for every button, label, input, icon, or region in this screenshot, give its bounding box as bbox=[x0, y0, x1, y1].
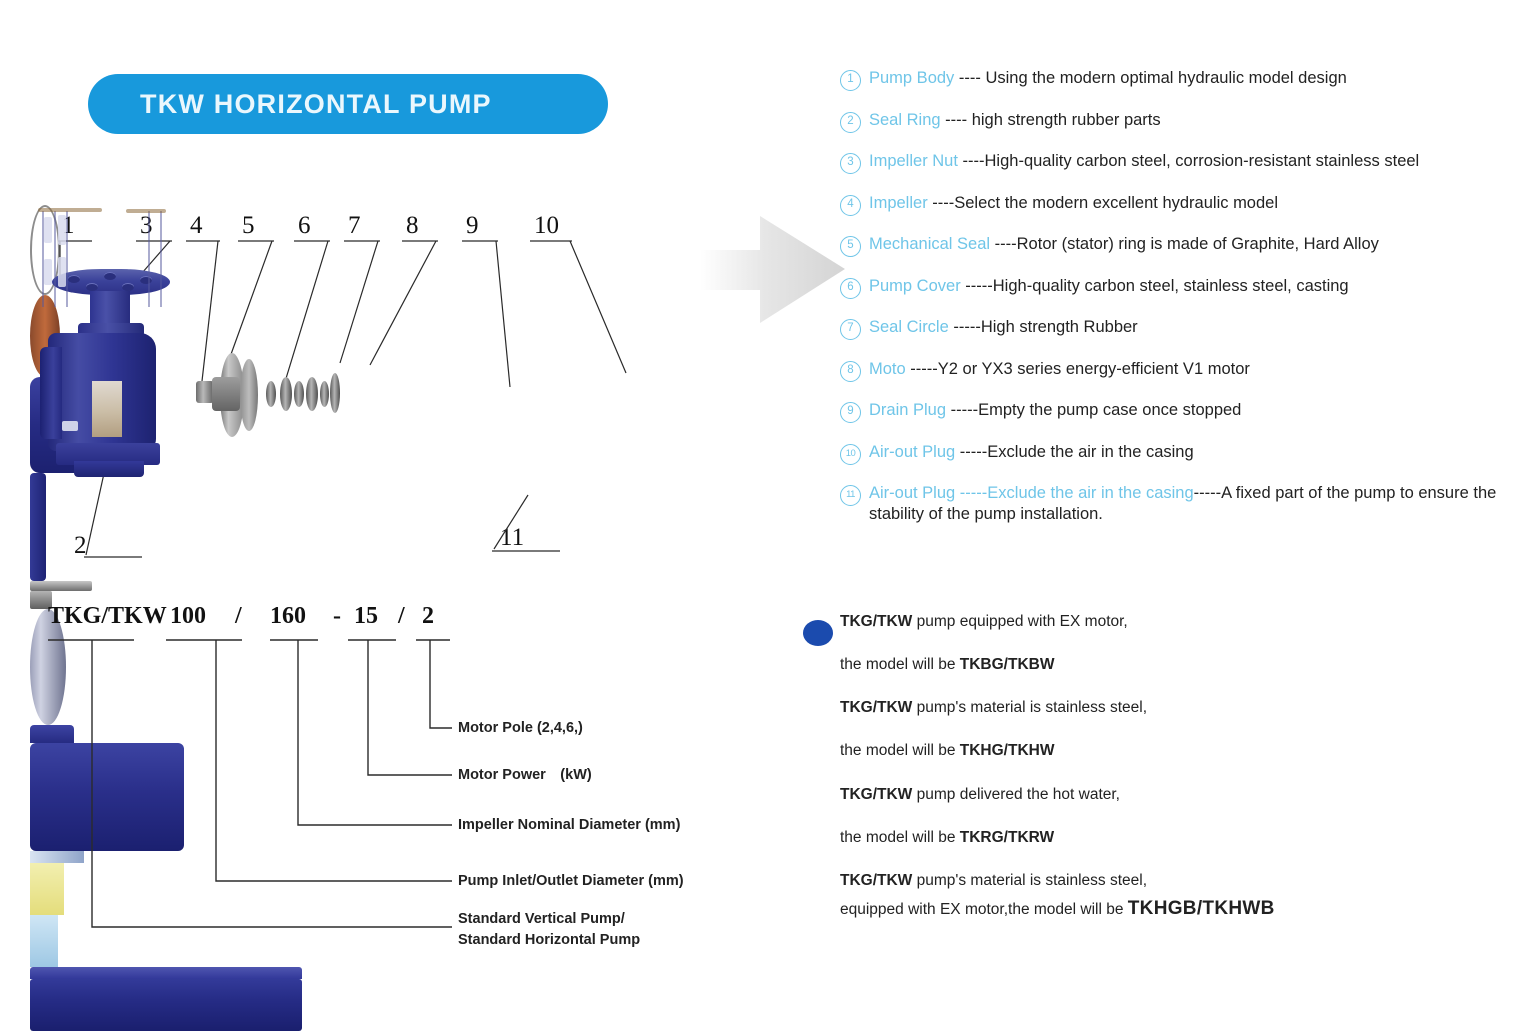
flange-bolt-holes bbox=[52, 271, 170, 293]
legend-number-icon: 6 bbox=[840, 278, 861, 299]
legend-part-name: Moto bbox=[869, 360, 906, 378]
note-line: TKG/TKW pump's material is stainless ste… bbox=[840, 698, 1460, 718]
legend-number-icon: 9 bbox=[840, 402, 861, 423]
model-label-pump-type-line2: Standard Horizontal Pump bbox=[458, 932, 640, 948]
note-text: the model will be bbox=[840, 829, 960, 846]
legend-item-2: 2 Seal Ring ---- high strength rubber pa… bbox=[840, 110, 1500, 133]
legend-part-name: Pump Cover bbox=[869, 277, 961, 295]
mechanical-seal-ring-3 bbox=[294, 381, 304, 407]
model-code-breakdown: TKG/TKW 100 / 160 - 15 / 2 Motor Pole (2… bbox=[30, 595, 730, 965]
legend-part-name: Pump Body bbox=[869, 69, 954, 87]
note-series: TKG/TKW bbox=[840, 786, 912, 803]
legend-item-11: 11 Air-out Plug -----Exclude the air in … bbox=[840, 483, 1500, 524]
model-label-inlet-dia: Pump Inlet/Outlet Diameter (mm) bbox=[458, 871, 684, 892]
page-title-pill: TKW HORIZONTAL PUMP bbox=[88, 74, 608, 134]
pump-body-base-pad bbox=[74, 461, 144, 477]
legend-part-desc: ---- Using the modern optimal hydraulic … bbox=[954, 69, 1347, 87]
note-line: the model will be TKBG/TKBW bbox=[840, 655, 1460, 675]
legend-item-4: 4 Impeller ----Select the modern excelle… bbox=[840, 193, 1500, 216]
legend-item-8: 8 Moto -----Y2 or YX3 series energy-effi… bbox=[840, 359, 1500, 382]
legend-part-desc: -----High strength Rubber bbox=[949, 318, 1138, 336]
note-text: pump's material is stainless steel, bbox=[912, 699, 1147, 716]
parts-legend-list: 1 Pump Body ---- Using the modern optima… bbox=[840, 68, 1500, 543]
mechanical-seal-spring bbox=[330, 373, 340, 413]
model-label-motor-pole: Motor Pole (2,4,6,) bbox=[458, 718, 583, 739]
legend-part-desc: ----Rotor (stator) ring is made of Graph… bbox=[990, 235, 1379, 253]
note-model: TKHGB/TKHWB bbox=[1128, 898, 1275, 919]
legend-item-1: 1 Pump Body ---- Using the modern optima… bbox=[840, 68, 1500, 91]
note-line: the model will be TKHG/TKHW bbox=[840, 741, 1460, 761]
note-series: TKG/TKW bbox=[840, 613, 912, 630]
note-line: the model will be TKRG/TKRW bbox=[840, 828, 1460, 848]
legend-part-name: Seal Circle bbox=[869, 318, 949, 336]
legend-part-name: Impeller bbox=[869, 194, 928, 212]
model-label-pump-type-line1: Standard Vertical Pump/ bbox=[458, 911, 625, 927]
legend-number-icon: 4 bbox=[840, 195, 861, 216]
legend-number-icon: 7 bbox=[840, 319, 861, 340]
notes-bullet-icon bbox=[803, 620, 833, 646]
note-model: TKHG/TKHW bbox=[960, 742, 1055, 759]
mechanical-seal-ring-4 bbox=[306, 377, 318, 411]
legend-part-desc-blue: -----Exclude the air in the casing bbox=[955, 484, 1193, 502]
legend-part-name: Impeller Nut bbox=[869, 152, 958, 170]
legend-part-name: Air-out Plug bbox=[869, 484, 955, 502]
legend-part-desc: -----Empty the pump case once stopped bbox=[946, 401, 1241, 419]
legend-number-icon: 1 bbox=[840, 70, 861, 91]
note-text: equipped with EX motor,the model will be bbox=[840, 901, 1128, 918]
pump-body-drain-port bbox=[62, 421, 78, 431]
motor-shaft bbox=[30, 581, 92, 591]
legend-part-desc: ----Select the modern excellent hydrauli… bbox=[928, 194, 1278, 212]
legend-part-desc: ---- high strength rubber parts bbox=[941, 111, 1161, 129]
note-series: TKG/TKW bbox=[840, 699, 912, 716]
legend-item-5: 5 Mechanical Seal ----Rotor (stator) rin… bbox=[840, 234, 1500, 257]
legend-number-icon: 5 bbox=[840, 236, 861, 257]
legend-item-3: 3 Impeller Nut ----High-quality carbon s… bbox=[840, 151, 1500, 174]
legend-part-desc: -----Y2 or YX3 series energy-efficient V… bbox=[906, 360, 1250, 378]
legend-part-name: Seal Ring bbox=[869, 111, 941, 129]
note-text: the model will be bbox=[840, 656, 960, 673]
legend-part-name: Drain Plug bbox=[869, 401, 946, 419]
model-variant-notes: TKG/TKW pump equipped with EX motor, the… bbox=[840, 612, 1460, 945]
note-model: TKBG/TKBW bbox=[960, 656, 1055, 673]
note-model: TKRG/TKRW bbox=[960, 829, 1054, 846]
exploded-pump-diagram: 1 3 4 5 6 7 8 9 10 2 11 bbox=[30, 205, 710, 570]
legend-number-icon: 3 bbox=[840, 153, 861, 174]
legend-part-desc: -----High-quality carbon steel, stainles… bbox=[961, 277, 1349, 295]
legend-number-icon: 11 bbox=[840, 485, 861, 506]
legend-item-6: 6 Pump Cover -----High-quality carbon st… bbox=[840, 276, 1500, 299]
note-series: TKG/TKW bbox=[840, 872, 912, 889]
note-text: pump equipped with EX motor, bbox=[912, 613, 1127, 630]
note-text: the model will be bbox=[840, 742, 960, 759]
pump-body-discharge-flange bbox=[40, 347, 62, 439]
legend-item-7: 7 Seal Circle -----High strength Rubber bbox=[840, 317, 1500, 340]
legend-part-desc: -----Exclude the air in the casing bbox=[955, 443, 1193, 461]
mechanical-seal-ring-2 bbox=[280, 377, 292, 411]
note-line: TKG/TKW pump delivered the hot water, bbox=[840, 785, 1460, 805]
note-line: TKG/TKW pump's material is stainless ste… bbox=[840, 871, 1460, 891]
pump-base-plate-top bbox=[30, 967, 302, 979]
legend-item-9: 9 Drain Plug -----Empty the pump case on… bbox=[840, 400, 1500, 423]
impeller-back-shroud bbox=[240, 359, 258, 431]
model-label-motor-power: Motor Power (kW) bbox=[458, 765, 592, 786]
legend-part-name: Air-out Plug bbox=[869, 443, 955, 461]
model-label-pump-type: Standard Vertical Pump/ Standard Horizon… bbox=[458, 909, 640, 951]
legend-number-icon: 2 bbox=[840, 112, 861, 133]
page-title: TKW HORIZONTAL PUMP bbox=[140, 89, 492, 120]
legend-part-desc: ----High-quality carbon steel, corrosion… bbox=[958, 152, 1419, 170]
mechanical-seal-ring-5 bbox=[320, 381, 329, 407]
note-text: pump delivered the hot water, bbox=[912, 786, 1120, 803]
impeller-hub bbox=[212, 377, 240, 411]
pump-base-plate bbox=[30, 979, 302, 1031]
legend-item-10: 10 Air-out Plug -----Exclude the air in … bbox=[840, 442, 1500, 465]
note-line: equipped with EX motor,the model will be… bbox=[840, 897, 1460, 922]
pump-body-nameplate bbox=[92, 381, 122, 437]
legend-number-icon: 8 bbox=[840, 361, 861, 382]
mechanical-seal-ring-1 bbox=[266, 381, 276, 407]
note-line: TKG/TKW pump equipped with EX motor, bbox=[840, 612, 1460, 632]
model-label-impeller-dia: Impeller Nominal Diameter (mm) bbox=[458, 815, 680, 836]
flow-arrow-icon bbox=[700, 212, 845, 327]
legend-part-name: Mechanical Seal bbox=[869, 235, 990, 253]
note-text: pump's material is stainless steel, bbox=[912, 872, 1147, 889]
legend-number-icon: 10 bbox=[840, 444, 861, 465]
